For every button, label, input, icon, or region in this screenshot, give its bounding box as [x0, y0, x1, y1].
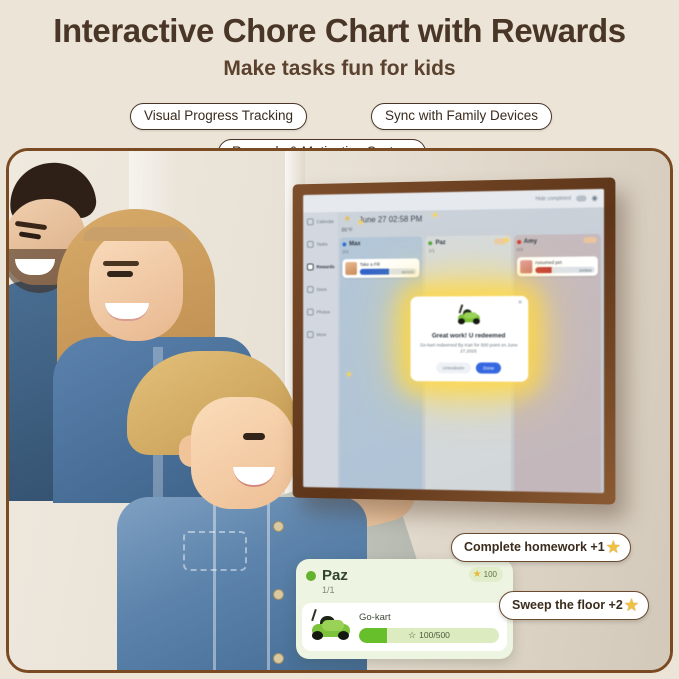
paz-task-count: 1/1 [322, 585, 503, 595]
page-subtitle: Make tasks fun for kids [0, 57, 679, 81]
go-kart-icon [310, 612, 352, 642]
hide-completed-toggle[interactable] [576, 196, 586, 202]
sidebar-item-more[interactable]: More [303, 331, 326, 338]
paz-name: Paz [322, 567, 348, 584]
sparkle-icon: ✦ [357, 217, 364, 228]
callout-label: Sweep the floor +2 [512, 598, 623, 612]
hide-completed-label: Hide completed [535, 196, 570, 203]
sidebar-label: Photos [317, 310, 330, 315]
paz-reward-card[interactable]: Paz 1/1 ★ 100 Go-kart ☆ 100/500 [296, 559, 513, 659]
goal-progress-bar: ☆ 100/500 [359, 628, 499, 643]
store-icon [307, 286, 314, 293]
sidebar-item-tasks[interactable]: Tasks [303, 241, 327, 248]
close-icon[interactable]: ✕ [518, 299, 523, 306]
points-badge [583, 237, 596, 243]
modal-title: Great work! U redeemed [419, 332, 519, 339]
wall-mounted-tablet-frame: Hide completed ◉ Calendar Tasks Rewards [293, 177, 616, 504]
date-time-text: June 27 02:58 PM [359, 214, 422, 224]
column-header: Max [342, 240, 419, 247]
kid-dot-icon [517, 240, 521, 244]
photos-icon [307, 309, 314, 316]
sun-icon: ☀ [343, 214, 351, 225]
sidebar-item-photos[interactable]: Photos [303, 309, 330, 316]
reward-redeemed-modal[interactable]: ✕ Great work! U redeemed Go-kart redeeme… [410, 296, 528, 382]
goal-progress-label: 100/500 [419, 630, 450, 640]
kid-dot-icon [429, 241, 433, 245]
task-icon [345, 262, 357, 275]
page-title: Interactive Chore Chart with Rewards [0, 12, 679, 50]
tasks-icon [307, 241, 314, 248]
kid-name: Max [349, 241, 360, 247]
sidebar-label: Calendar [317, 219, 335, 224]
wifi-icon: ◉ [592, 194, 598, 202]
unredeem-button[interactable]: Unredeem [436, 362, 471, 373]
modal-body-text: Go-kart redeemed By Kari for 500 point o… [419, 342, 519, 355]
sidebar-label: Store [317, 287, 327, 292]
temperature-text: 86°F [341, 228, 352, 234]
sidebar-label: Tasks [317, 242, 328, 247]
kid-dot-icon [342, 242, 346, 246]
promo-header: Interactive Chore Chart with Rewards Mak… [0, 0, 679, 148]
kid-dot-icon [306, 571, 316, 581]
app-body: Calendar Tasks Rewards Store Photos [303, 207, 604, 493]
paz-points-value: 100 [484, 570, 497, 579]
calendar-icon [307, 218, 314, 225]
task-progress-label: 20/500 [579, 267, 592, 272]
kid-name: Paz [435, 240, 445, 246]
rewards-icon [307, 263, 314, 270]
sparkle-icon: ✦ [345, 370, 352, 381]
modal-actions: Unredeem Done [419, 362, 519, 373]
feature-pill-visual-progress: Visual Progress Tracking [130, 103, 307, 130]
sidebar-label: More [317, 332, 327, 337]
star-icon: ★ [607, 538, 620, 556]
paz-points-badge: ★ 100 [469, 567, 503, 582]
star-icon: ★ [473, 569, 482, 580]
app-main: ☀ June 27 02:58 PM 86°F Max 2/4 [338, 207, 604, 493]
goal-name: Go-kart [359, 612, 499, 623]
sparkle-icon: ✦ [431, 210, 438, 221]
paz-goal-row[interactable]: Go-kart ☆ 100/500 [302, 603, 507, 651]
app-sidebar: Calendar Tasks Rewards Store Photos [303, 212, 337, 488]
kid-name: Amy [524, 239, 537, 245]
callout-label: Complete homework +1 [464, 540, 605, 554]
callout-complete-homework: Complete homework +1 ★ [451, 533, 631, 562]
sidebar-item-calendar[interactable]: Calendar [303, 218, 334, 225]
sidebar-item-rewards[interactable]: Rewards [303, 263, 334, 270]
tablet-screen[interactable]: Hide completed ◉ Calendar Tasks Rewards [303, 189, 604, 493]
callout-sweep-floor: Sweep the floor +2 ★ [499, 591, 649, 620]
sidebar-item-store[interactable]: Store [303, 286, 327, 293]
done-button[interactable]: Done [476, 363, 501, 374]
star-icon: ★ [625, 596, 638, 614]
feature-pill-sync-family: Sync with Family Devices [371, 103, 552, 130]
go-kart-icon [456, 307, 480, 327]
sparkle-icon: ✦ [503, 235, 511, 246]
star-outline-icon: ☆ [408, 630, 416, 641]
sidebar-label: Rewards [317, 264, 335, 269]
more-icon [307, 331, 314, 338]
